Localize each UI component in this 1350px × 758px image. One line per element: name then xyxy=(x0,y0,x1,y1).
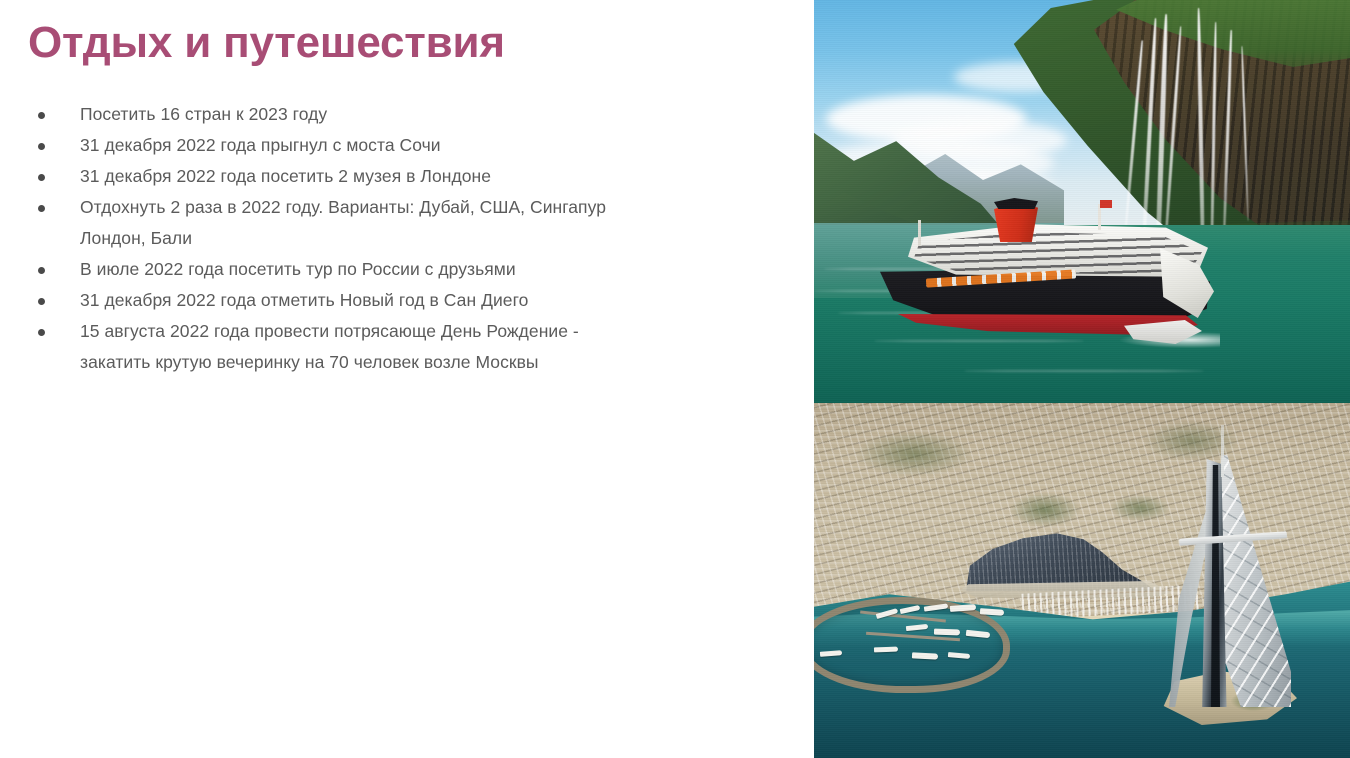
dubai-aerial-photo xyxy=(814,403,1350,758)
list-item: 31 декабря 2022 года посетить 2 музея в … xyxy=(0,161,790,192)
image-column xyxy=(814,0,1350,758)
list-item: В июле 2022 года посетить тур по России … xyxy=(0,254,790,285)
city-greenery xyxy=(1010,493,1080,527)
list-item: Посетить 16 стран к 2023 году xyxy=(0,99,790,130)
cruise-ship xyxy=(874,196,1234,361)
burj-al-arab xyxy=(1159,425,1299,725)
list-item-label-wrap: закатить крутую вечеринку на 70 человек … xyxy=(80,347,790,378)
water-ripple xyxy=(964,370,1204,372)
list-item-label: 31 декабря 2022 года отметить Новый год … xyxy=(80,285,790,316)
bullet-dot-icon xyxy=(38,130,48,161)
page-title: Отдых и путешествия xyxy=(28,18,505,67)
burj-mast xyxy=(1221,425,1224,477)
list-item: Отдохнуть 2 раза в 2022 году. Варианты: … xyxy=(0,192,790,254)
list-item-label: Посетить 16 стран к 2023 году xyxy=(80,99,790,130)
ship-flag xyxy=(1100,200,1112,208)
list-item-label: 31 декабря 2022 года посетить 2 музея в … xyxy=(80,161,790,192)
bullet-list: Посетить 16 стран к 2023 году 31 декабря… xyxy=(0,99,790,378)
list-item: 15 августа 2022 года провести потрясающе… xyxy=(0,316,790,378)
bullet-dot-icon xyxy=(38,285,48,316)
bullet-dot-icon xyxy=(38,99,48,130)
list-item-label: Отдохнуть 2 раза в 2022 году. Варианты: … xyxy=(80,192,790,223)
fjord-cruise-ship-photo xyxy=(814,0,1350,403)
list-item: 31 декабря 2022 года отметить Новый год … xyxy=(0,285,790,316)
bullet-dot-icon xyxy=(38,192,48,223)
yacht xyxy=(934,629,960,636)
list-item-label: 15 августа 2022 года провести потрясающе… xyxy=(80,316,790,347)
bullet-dot-icon xyxy=(38,316,48,347)
list-item-label: 31 декабря 2022 года прыгнул с моста Соч… xyxy=(80,130,790,161)
yacht xyxy=(912,652,938,659)
list-item: 31 декабря 2022 года прыгнул с моста Соч… xyxy=(0,130,790,161)
ship-funnel-cap xyxy=(994,198,1038,209)
list-item-label: В июле 2022 года посетить тур по России … xyxy=(80,254,790,285)
list-item-label-wrap: Лондон, Бали xyxy=(80,223,790,254)
yacht xyxy=(874,647,898,653)
bullet-dot-icon xyxy=(38,161,48,192)
ship-mast-aft xyxy=(918,220,921,246)
bullet-dot-icon xyxy=(38,254,48,285)
city-greenery xyxy=(854,431,974,477)
text-panel: Отдых и путешествия Посетить 16 стран к … xyxy=(0,0,814,758)
slide: Отдых и путешествия Посетить 16 стран к … xyxy=(0,0,1350,758)
